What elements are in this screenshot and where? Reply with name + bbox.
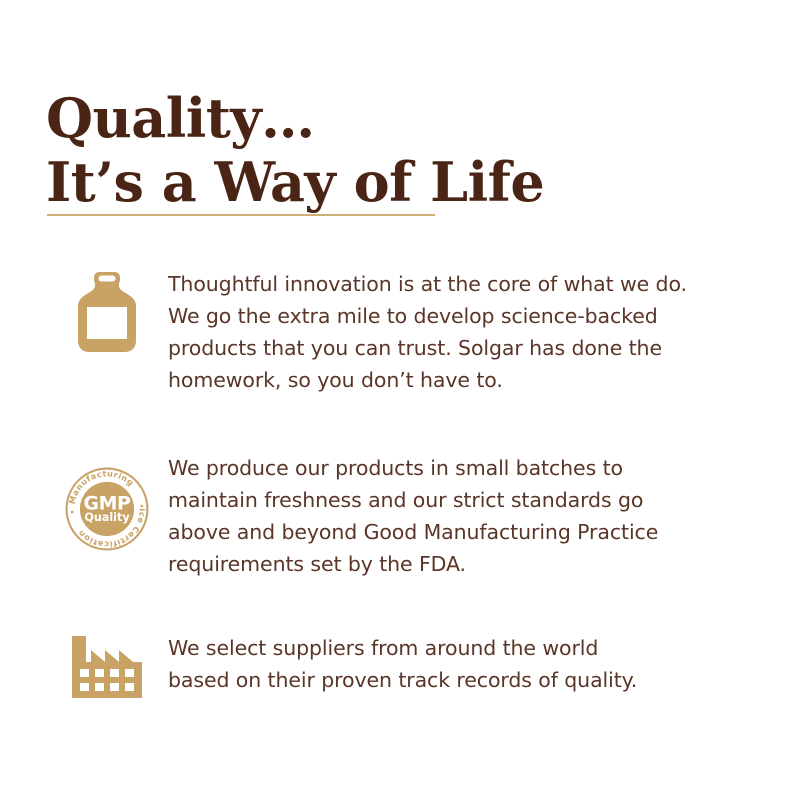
text-line: above and beyond Good Manufacturing Prac…	[168, 516, 756, 548]
text-line: homework, so you don’t have to.	[168, 364, 756, 396]
feature-text-suppliers: We select suppliers from around the worl…	[168, 632, 756, 696]
page-title-line-1: Quality…	[46, 86, 746, 150]
supplement-bottle-icon	[76, 272, 138, 352]
quality-page: Quality… It’s a Way of Life Thoughtful i…	[0, 0, 800, 800]
text-line: We select suppliers from around the worl…	[168, 632, 756, 664]
feature-icon-slot	[46, 268, 168, 352]
text-line: products that you can trust. Solgar has …	[168, 332, 756, 364]
feature-block-gmp: Good Manufacturing Practice Certificatio…	[46, 452, 756, 580]
text-line: requirements set by the FDA.	[168, 548, 756, 580]
page-title-line-2: It’s a Way of Life	[46, 150, 746, 214]
feature-icon-slot	[46, 632, 168, 698]
text-line: maintain freshness and our strict standa…	[168, 484, 756, 516]
text-line: We go the extra mile to develop science-…	[168, 300, 756, 332]
text-line: based on their proven track records of q…	[168, 664, 756, 696]
factory-icon	[67, 636, 147, 698]
gold-divider-rule	[47, 214, 435, 216]
feature-block-innovation: Thoughtful innovation is at the core of …	[46, 268, 756, 396]
feature-block-suppliers: We select suppliers from around the worl…	[46, 632, 756, 698]
feature-text-innovation: Thoughtful innovation is at the core of …	[168, 268, 756, 396]
feature-icon-slot: Good Manufacturing Practice Certificatio…	[46, 452, 168, 552]
text-line: Thoughtful innovation is at the core of …	[168, 268, 756, 300]
gmp-quality-seal-icon: Good Manufacturing Practice Certificatio…	[64, 466, 150, 552]
text-line: We produce our products in small batches…	[168, 452, 756, 484]
feature-text-gmp: We produce our products in small batches…	[168, 452, 756, 580]
page-title: Quality… It’s a Way of Life	[46, 86, 746, 214]
gmp-center-line-2: Quality	[84, 511, 130, 524]
